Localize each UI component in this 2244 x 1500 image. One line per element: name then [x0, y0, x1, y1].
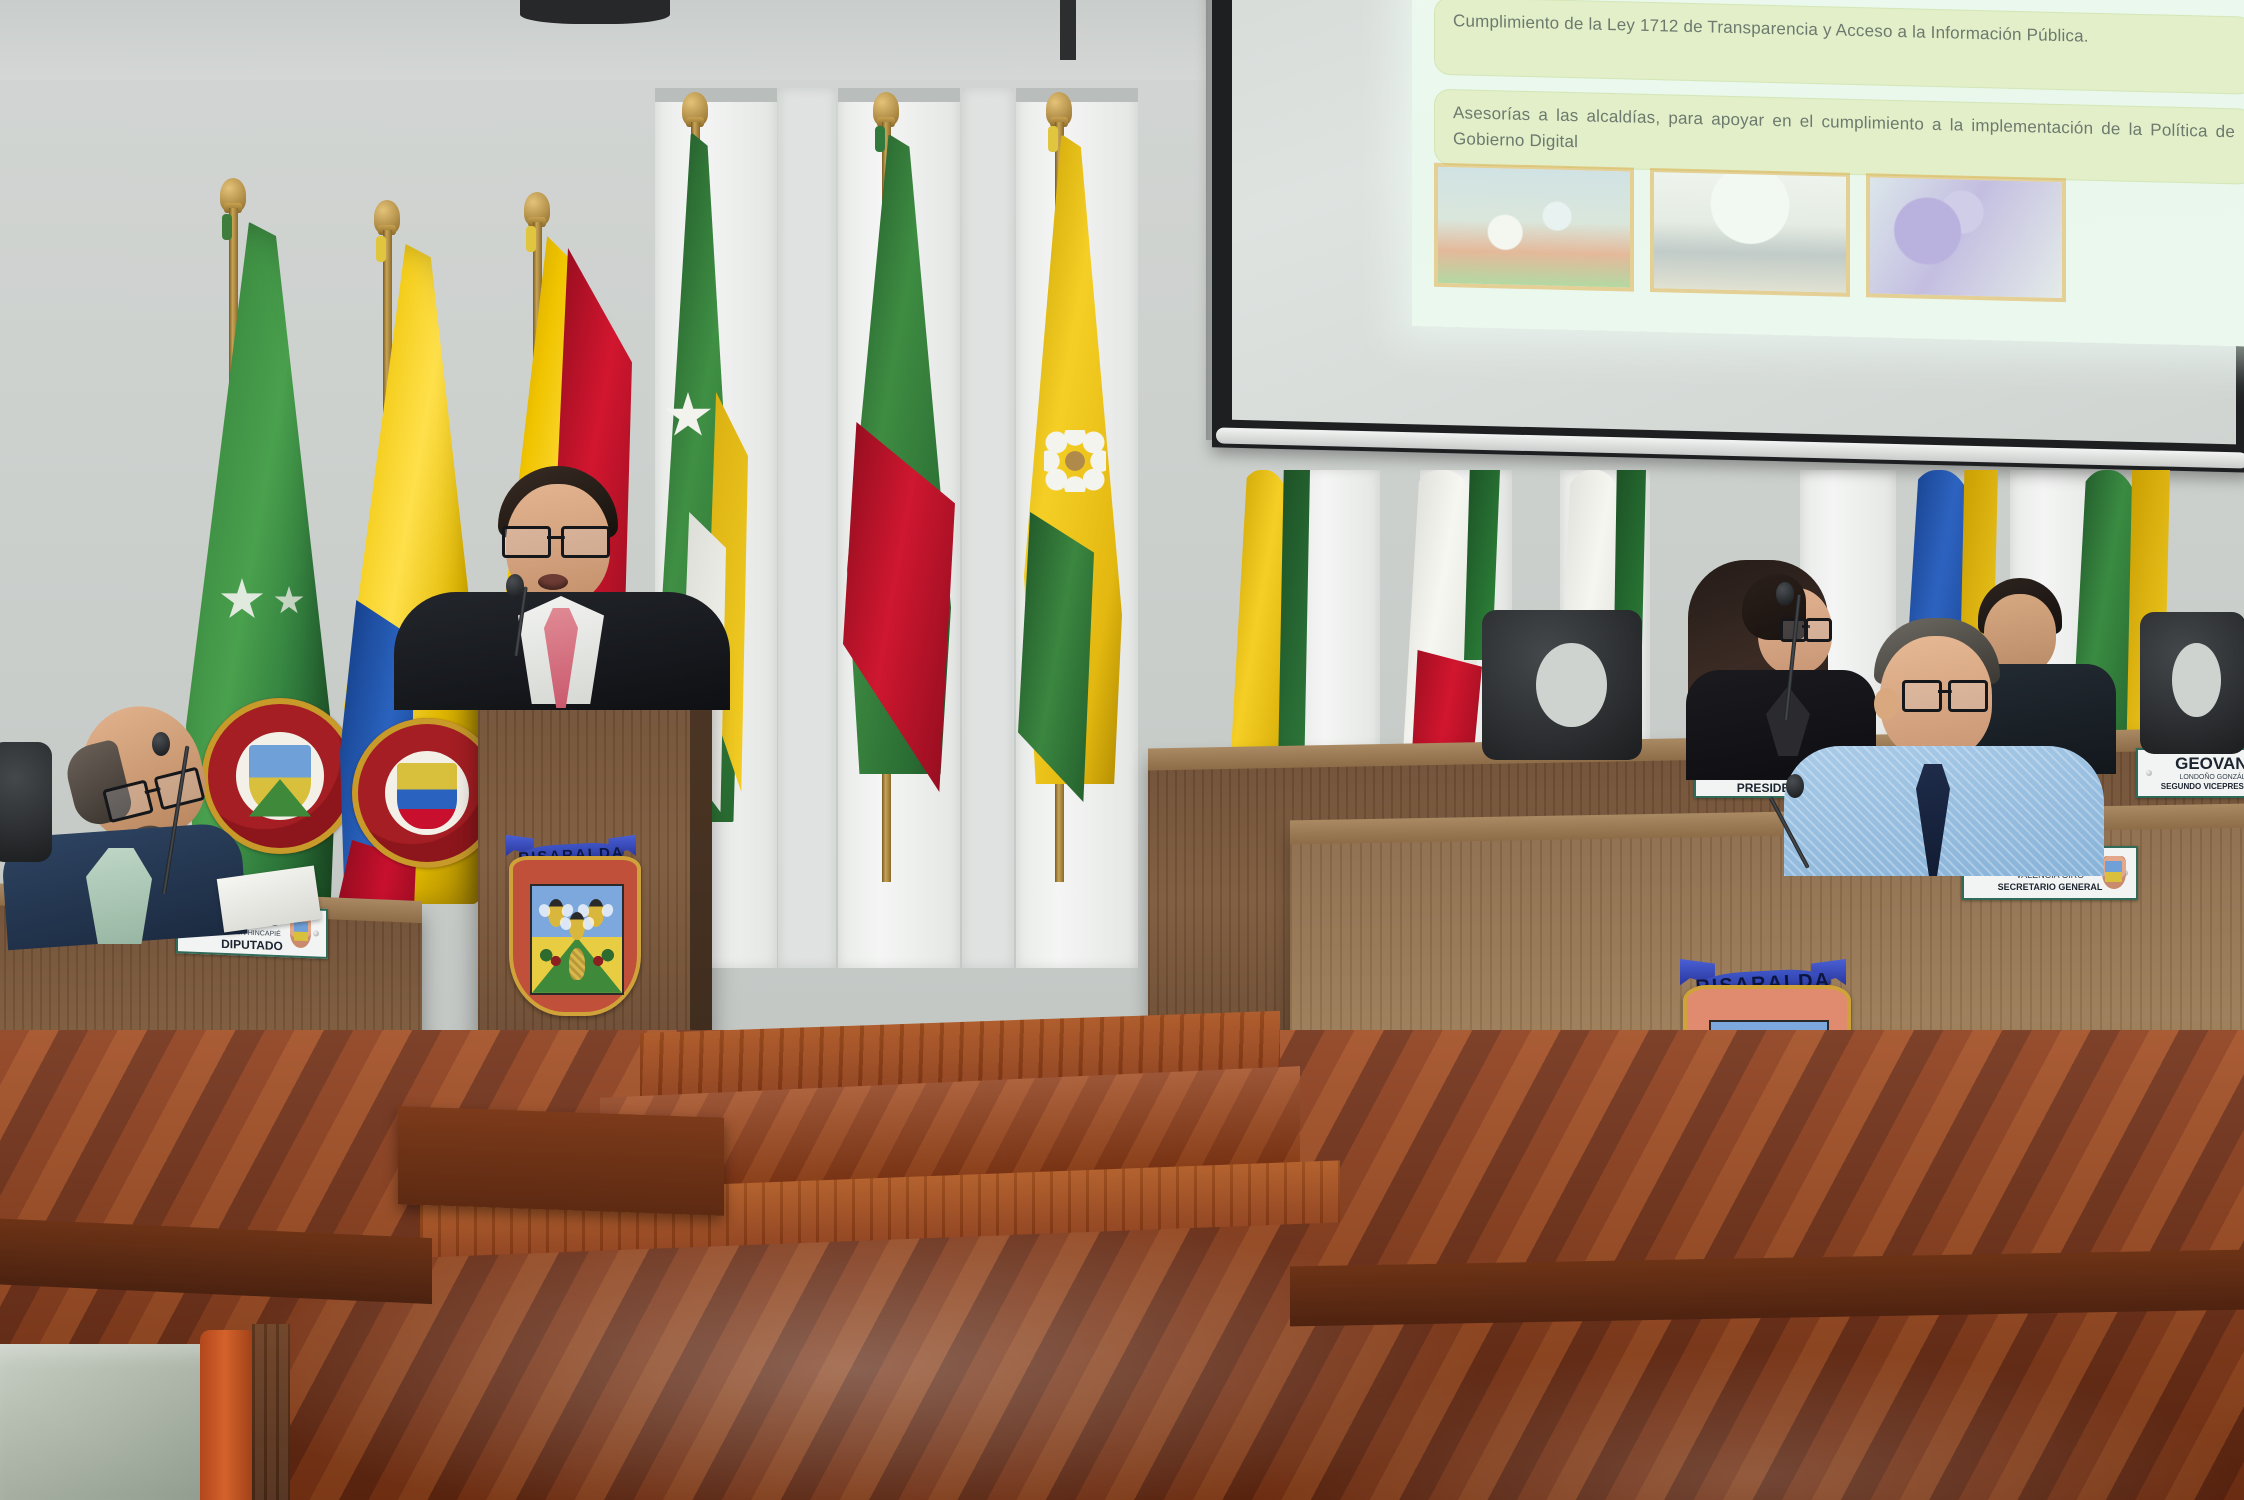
flag-niche-4	[778, 88, 836, 968]
flag-finial	[374, 200, 400, 234]
ceiling-strip	[1060, 0, 1076, 60]
coffee-branch-left	[539, 946, 562, 969]
person-mario	[30, 700, 310, 920]
office-chair-3[interactable]	[0, 742, 52, 862]
slide-thumbnail-3	[1866, 173, 2066, 302]
projection-screen: Cumplimiento de la Ley 1712 de Transpare…	[1212, 0, 2244, 473]
mouth	[538, 574, 568, 590]
glasses-icon	[1902, 680, 1988, 706]
slide-thumbnail-2	[1650, 168, 1850, 297]
ear	[1874, 688, 1898, 720]
slide-bullet-1: Cumplimiento de la Ley 1712 de Transpare…	[1434, 0, 2244, 95]
nameplate-oscar-role: SECRETARIO GENERAL	[1998, 883, 2103, 892]
flag-municipal-2	[845, 92, 965, 882]
microphone-head	[1776, 582, 1794, 606]
flag-finial	[873, 92, 899, 126]
chair-frame	[200, 1330, 256, 1500]
chair-upholstery	[0, 1344, 222, 1500]
ceiling-fixture	[520, 0, 670, 24]
flag-flower-icon	[1044, 430, 1106, 492]
flag-finial	[1046, 92, 1072, 126]
flag-municipal-4	[1230, 470, 1340, 770]
nameplate-geovany-surname: LONDOÑO GONZÁLEZ	[2179, 774, 2244, 781]
presentation-slide: Cumplimiento de la Ley 1712 de Transpare…	[1412, 0, 2244, 347]
flag-tie	[376, 236, 386, 262]
office-chair-2[interactable]	[2140, 612, 2244, 754]
nameplate-geovany-name: GEOVANY	[2175, 755, 2244, 772]
microphone-head	[1786, 774, 1804, 798]
nameplate-geovany: GEOVANY LONDOÑO GONZÁLEZ SEGUNDO VICEPRE…	[2136, 748, 2244, 798]
flag-tie	[222, 214, 232, 240]
slide-thumbnail-row	[1434, 163, 2066, 302]
flag-tie	[875, 126, 885, 152]
podium-microphone-head	[506, 574, 524, 598]
coat-of-arms-podium: RISARALDA	[500, 826, 642, 1012]
person-speaker	[420, 466, 720, 696]
flag-tie	[1048, 126, 1058, 152]
office-chair-1[interactable]	[1482, 610, 1642, 760]
podium-platform	[398, 1106, 724, 1215]
conference-hall-photo: Cumplimiento de la Ley 1712 de Transpare…	[0, 0, 2244, 1500]
projection-screen-surface: Cumplimiento de la Ley 1712 de Transpare…	[1232, 0, 2236, 444]
slide-bullet-2-text: Asesorías a las alcaldías, para apoyar e…	[1453, 100, 2235, 170]
foreground-chair[interactable]	[0, 1322, 290, 1500]
glasses-icon	[502, 526, 610, 552]
slide-bullet-1-text: Cumplimiento de la Ley 1712 de Transpare…	[1453, 8, 2235, 53]
nameplate-mario-role: DIPUTADO	[221, 938, 283, 952]
slide-thumbnail-1	[1434, 163, 1634, 292]
desk-microphone-head	[152, 732, 170, 756]
corn-cob	[569, 948, 585, 980]
flag-cloth-green	[1018, 512, 1094, 802]
glasses-icon	[1780, 618, 1832, 636]
flag-finial	[220, 178, 246, 212]
flag-tie	[526, 226, 536, 252]
nameplate-geovany-role: SEGUNDO VICEPRESIDENTE	[2161, 783, 2244, 791]
coffee-branch-right	[591, 946, 614, 969]
person-geovany	[1830, 618, 2150, 868]
flag-niche-5	[962, 88, 1014, 968]
flag-municipal-3	[1020, 92, 1140, 882]
chair-frame-side	[252, 1324, 290, 1500]
flag-finial	[682, 92, 708, 126]
flag-finial	[524, 192, 550, 226]
